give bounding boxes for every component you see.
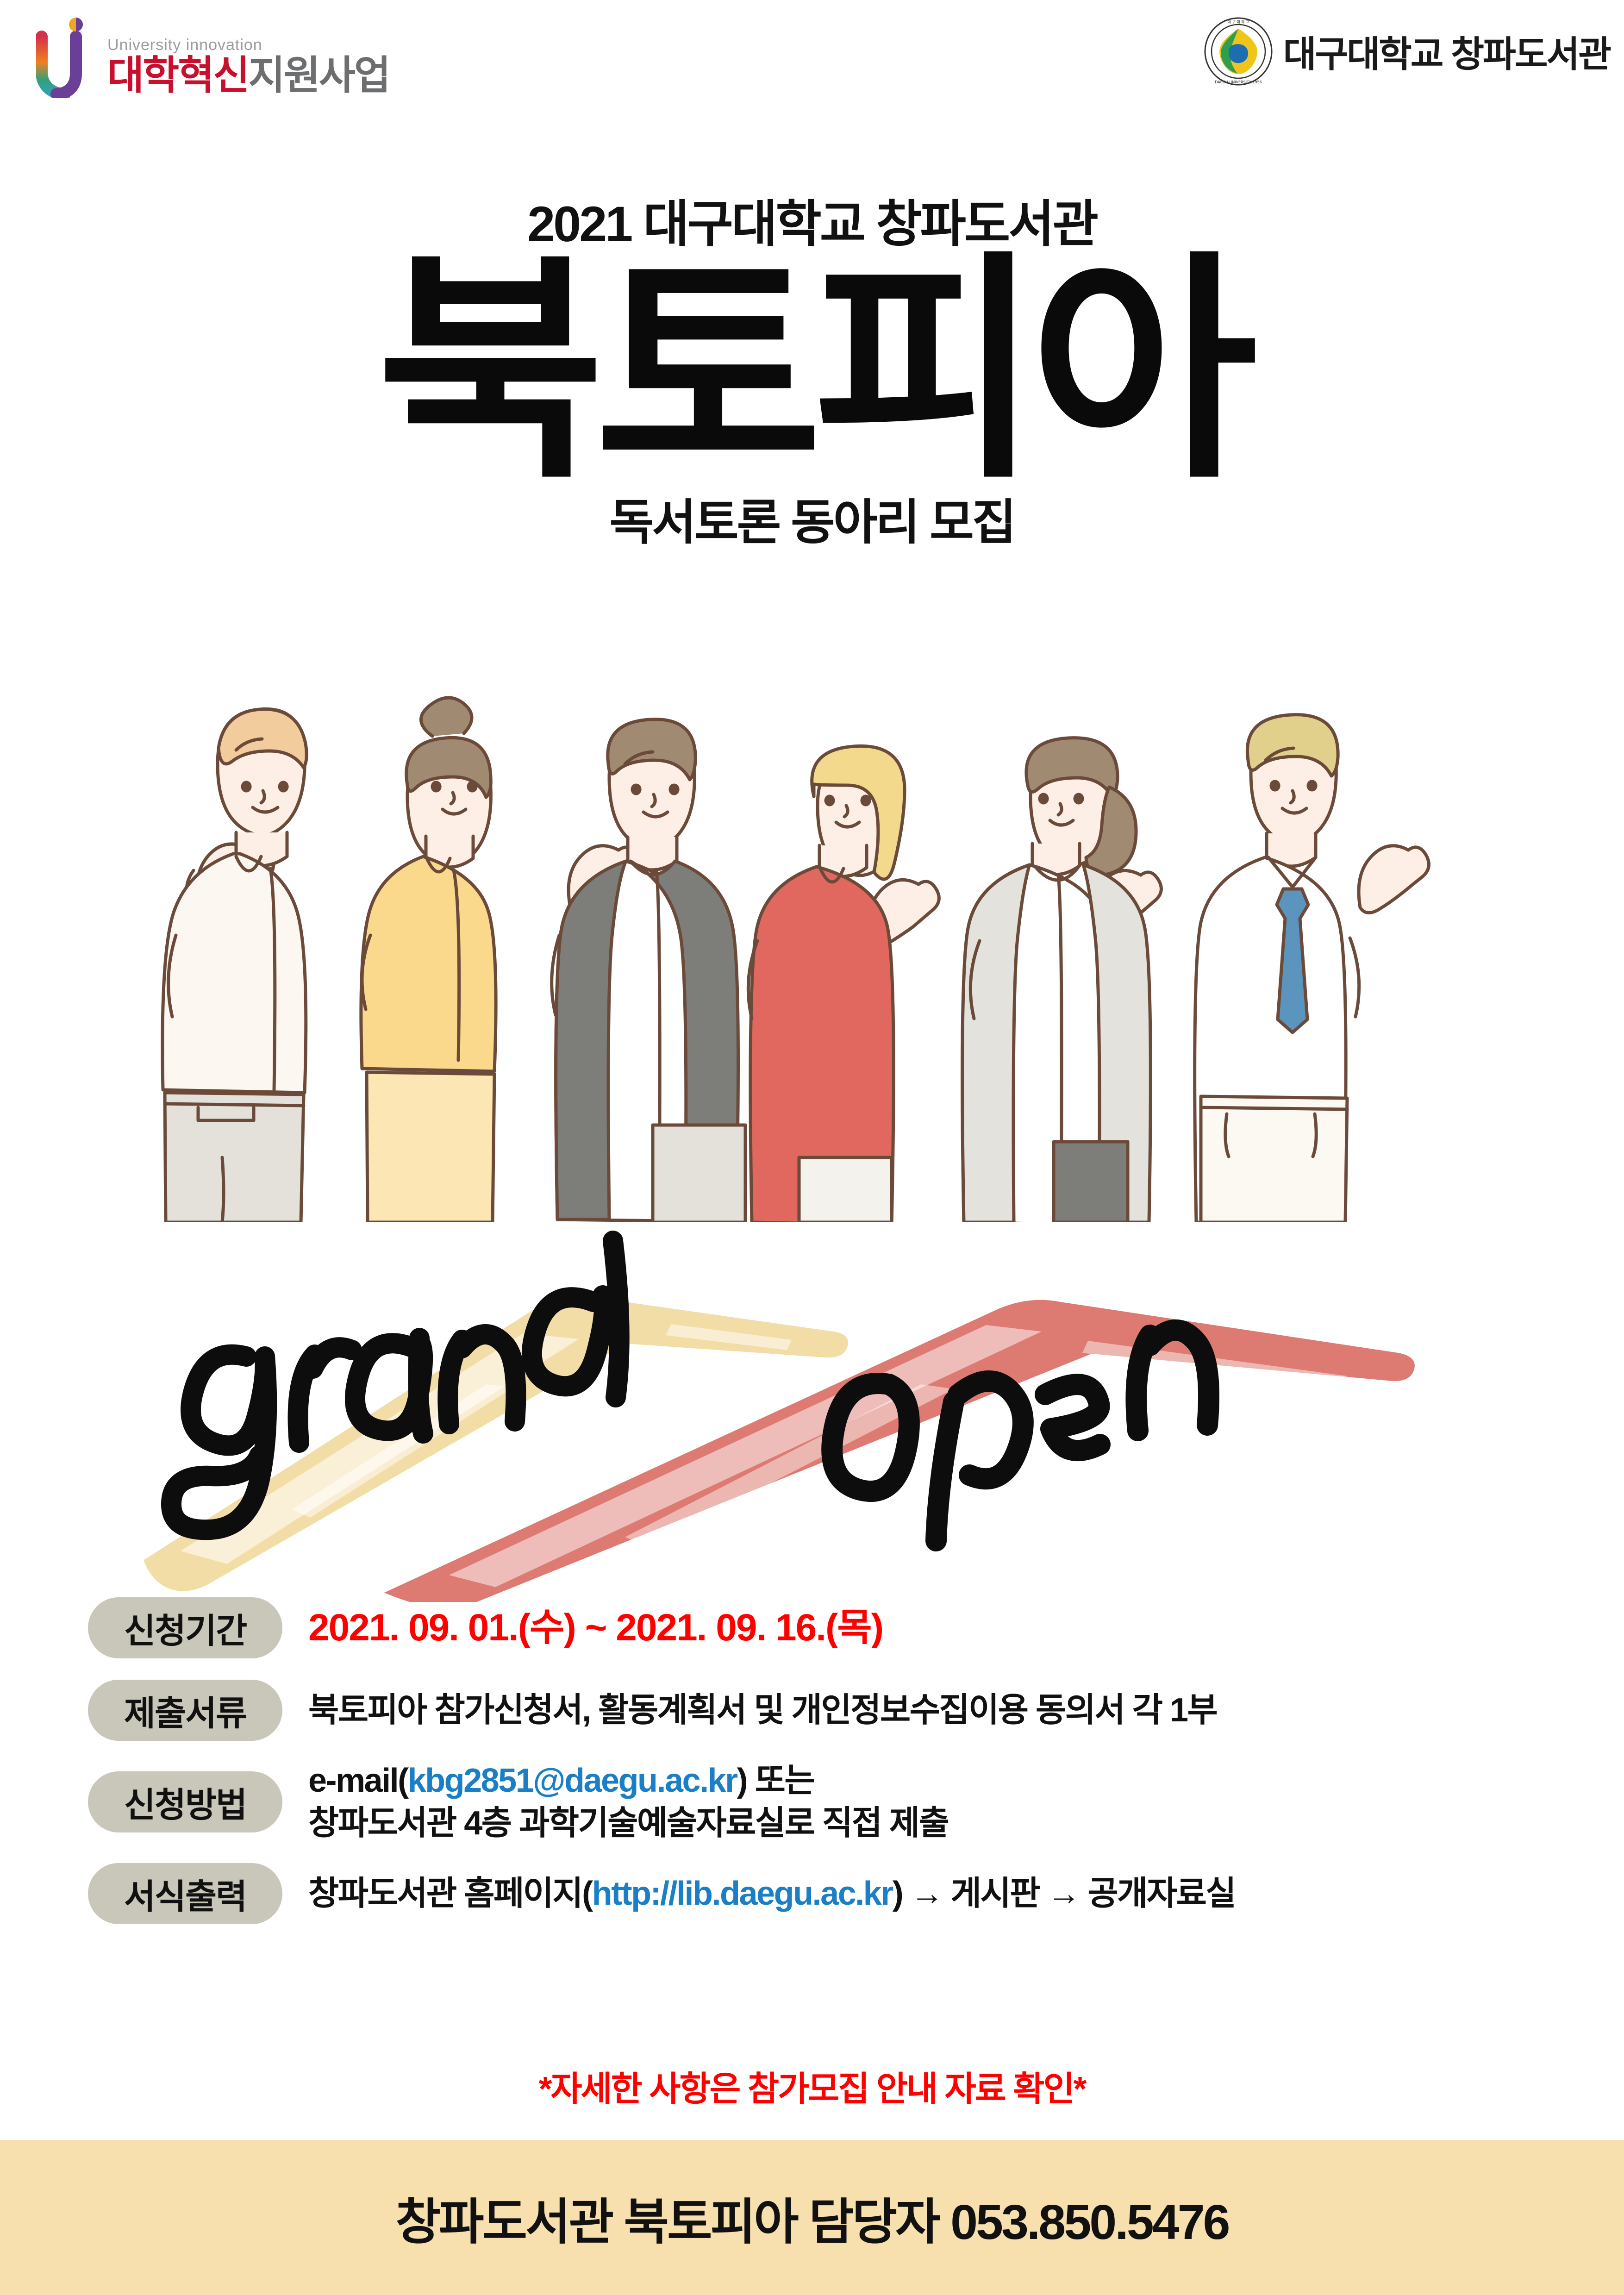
value-required-documents: 북토피아 참가신청서, 활동계획서 및 개인정보수집이용 동의서 각 1부 [282, 1689, 1217, 1732]
page-subtitle: 독서토론 동아리 모집 [0, 499, 1624, 547]
info-row-application-period: 신청기간 2021. 09. 01.(수) ~ 2021. 09. 16.(목) [88, 1597, 1560, 1658]
pill-label-application-period: 신청기간 [88, 1597, 282, 1658]
svg-text:DAEGU UNIVERSITY 1956: DAEGU UNIVERSITY 1956 [1215, 80, 1262, 84]
pill-label-required-documents: 제출서류 [88, 1680, 282, 1741]
header-logo-row: University innovation 대학혁신지원사업 대 구 대 학 교… [0, 0, 1624, 120]
library-logo-name: 대구대학교 창파도서관 [1283, 25, 1610, 77]
homepage-prefix: 창파도서관 홈페이지( [308, 1875, 592, 1912]
email-prefix: e-mail( [308, 1762, 408, 1799]
email-link[interactable]: kbg2851@daegu.ac.kr [408, 1762, 737, 1799]
value-application-method: e-mail(kbg2851@daegu.ac.kr) 또는 창파도서관 4층 … [282, 1759, 948, 1845]
svg-text:대 구 대 학 교: 대 구 대 학 교 [1227, 19, 1249, 24]
info-section: 신청기간 2021. 09. 01.(수) ~ 2021. 09. 16.(목)… [88, 1597, 1560, 1936]
detail-note: *자세한 사항은 참가모집 안내 자료 확인* [0, 2061, 1624, 2111]
homepage-path-suffix: ) → 게시판 → 공개자료실 [893, 1875, 1235, 1912]
six-people-thumbs-up-illustration [83, 611, 1555, 1222]
library-logo: 대 구 대 학 교 DAEGU UNIVERSITY 1956 대구대학교 창파… [1204, 12, 1610, 91]
email-suffix: ) 또는 [737, 1762, 814, 1799]
ui-logo-mark-icon [36, 17, 101, 98]
grand-lettering [171, 1241, 619, 1530]
info-row-required-documents: 제출서류 북토피아 참가신청서, 활동계획서 및 개인정보수집이용 동의서 각 … [88, 1680, 1560, 1741]
university-innovation-logo: University innovation 대학혁신지원사업 [36, 10, 389, 98]
daegu-university-seal-icon: 대 구 대 학 교 DAEGU UNIVERSITY 1956 [1204, 17, 1273, 86]
ui-logo-kor-red: 대학혁신 [107, 53, 248, 98]
page-title: 북토피아 [0, 256, 1624, 487]
footer-contact-text: 창파도서관 북토피아 담당자 053.850.5476 [395, 2182, 1228, 2253]
homepage-link[interactable]: http://lib.daegu.ac.kr [592, 1875, 893, 1912]
footer-contact-bar: 창파도서관 북토피아 담당자 053.850.5476 [0, 2140, 1624, 2295]
application-method-line2: 창파도서관 4층 과학기술예술자료실로 직접 제출 [308, 1802, 948, 1845]
info-row-form-download: 서식출력 창파도서관 홈페이지(http://lib.daegu.ac.kr) … [88, 1863, 1560, 1924]
application-method-line1: e-mail(kbg2851@daegu.ac.kr) 또는 [308, 1759, 948, 1802]
value-application-period: 2021. 09. 01.(수) ~ 2021. 09. 16.(목) [282, 1604, 883, 1652]
ui-logo-eng: University innovation [107, 37, 389, 53]
title-block: 2021 대구대학교 창파도서관 북토피아 독서토론 동아리 모집 [0, 199, 1624, 547]
value-form-download: 창파도서관 홈페이지(http://lib.daegu.ac.kr) → 게시판… [282, 1872, 1235, 1915]
ui-logo-kor: 대학혁신지원사업 [107, 56, 389, 95]
ui-logo-kor-gray: 지원사업 [248, 53, 389, 98]
info-row-application-method: 신청방법 e-mail(kbg2851@daegu.ac.kr) 또는 창파도서… [88, 1759, 1560, 1845]
grand-open-artwork [125, 1185, 1495, 1602]
pill-label-form-download: 서식출력 [88, 1863, 282, 1924]
pill-label-application-method: 신청방법 [88, 1771, 282, 1832]
